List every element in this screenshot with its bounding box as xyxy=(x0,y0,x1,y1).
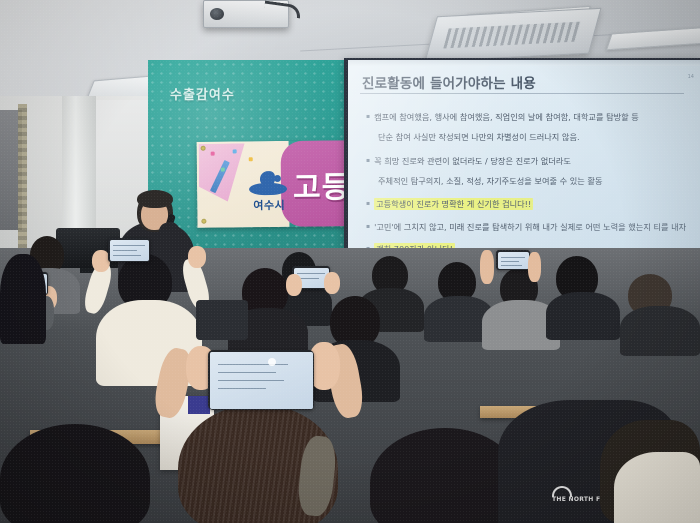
audience-hand xyxy=(188,246,206,268)
banner-confetti xyxy=(249,157,253,161)
slide-bullet: '고민'에 그치지 않고, 미래 진로를 탐색하기 위해 내가 실제로 어떤 노… xyxy=(366,222,686,233)
speaker-hair xyxy=(137,190,173,208)
banner-confetti xyxy=(233,149,237,153)
slide-bullet-continuation: 주체적인 탐구의지, 소질, 적성, 자기주도성을 보여줄 수 있는 활동 xyxy=(378,175,602,187)
lecture-hall-photo: 수출감여수 여수시 고등 진로활동에 들어가야하는 내용 14 캠프에 참여했음… xyxy=(0,0,700,523)
highlight-text: 고등학생이 진로가 명확한 게 신기한 겁니다!! xyxy=(374,198,533,210)
foreground-head xyxy=(0,424,150,523)
foreground-cream-collar xyxy=(614,452,700,523)
chair-back xyxy=(196,300,248,340)
ceiling-projector xyxy=(203,0,289,28)
phone-camera-foreground[interactable] xyxy=(208,350,314,410)
logo-dot-shape xyxy=(274,175,281,182)
projection-screen: 진로활동에 들어가야하는 내용 14 캠프에 참여했음, 행사에 참여했음, 직… xyxy=(348,60,700,260)
slide-bullet-highlighted: 고등학생이 진로가 명확한 게 신기한 겁니다!! xyxy=(366,199,533,210)
wall-trim-strip xyxy=(18,104,27,254)
ac-grill xyxy=(443,22,580,49)
screen-glare-dot xyxy=(268,358,276,366)
slide-page-number: 14 xyxy=(688,74,694,80)
bag-contents xyxy=(188,396,210,414)
backdrop-logo-text: 수출감여수 xyxy=(170,84,254,108)
screen-top-band xyxy=(348,60,700,66)
foreground-shoulders xyxy=(0,254,46,344)
slide-bullet-continuation: 단순 참여 사실만 작성되면 나만의 차별성이 드러나지 않음. xyxy=(378,131,580,143)
audience-arm xyxy=(528,252,541,282)
audience-hand xyxy=(324,272,340,294)
yeosu-city-logo xyxy=(249,169,287,195)
phone-camera[interactable] xyxy=(108,238,150,262)
audience-hand xyxy=(286,274,302,296)
slide-bullet: 꼭 희망 진로와 관련이 없더라도 / 당장은 진로가 없더라도 xyxy=(366,156,571,167)
logo-blob-shape xyxy=(260,171,275,186)
banner-headline: 고등 xyxy=(293,162,351,207)
phone-screen xyxy=(498,252,529,269)
banner-confetti xyxy=(211,152,215,156)
ceiling-air-conditioner xyxy=(424,8,601,62)
slide-bullet: 캠프에 참여했음, 행사에 참여했음, 직업인의 날에 참여함, 대학교를 탐방… xyxy=(366,112,639,123)
slide-title-divider xyxy=(360,93,684,94)
banner-city-label: 여수시 xyxy=(245,197,293,214)
audience-shoulders xyxy=(620,306,700,356)
banner-grommet xyxy=(201,146,206,151)
event-banner: 여수시 고등 xyxy=(197,140,358,228)
phone-screen xyxy=(110,240,149,261)
banner-confetti xyxy=(221,168,225,172)
phone-screen xyxy=(210,352,313,409)
audience-shoulders xyxy=(546,292,620,340)
phone-camera[interactable] xyxy=(496,250,530,270)
audience-arm xyxy=(480,250,494,284)
projector-lens xyxy=(210,8,224,20)
banner-grommet xyxy=(201,219,206,224)
slide-title: 진로활동에 들어가야하는 내용 xyxy=(362,72,536,92)
